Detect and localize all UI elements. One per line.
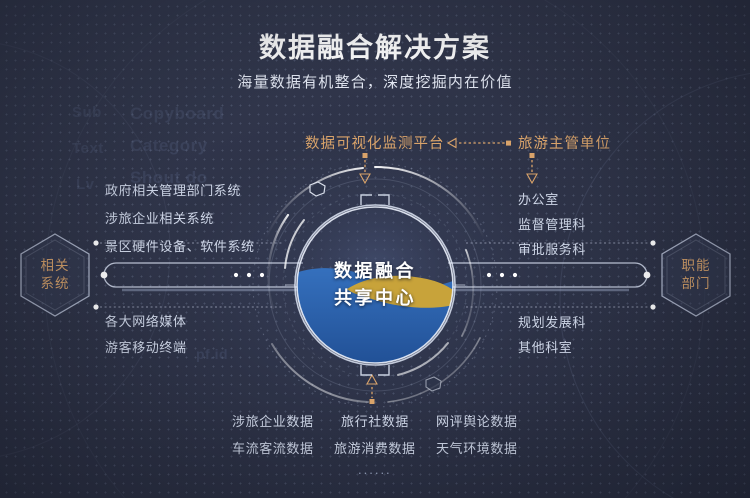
arrow-left-dotted-icon <box>448 136 514 150</box>
infographic-canvas: Copyboard Category Shout do Sub Text Lv … <box>0 0 750 498</box>
right-dept-item-1: 监督管理科 <box>518 214 586 233</box>
left-system-item-4: 游客移动终端 <box>105 337 187 356</box>
background-text-1: Category <box>130 136 208 156</box>
background-text-4: Text <box>72 140 104 157</box>
hexagon-left-line1: 相关 <box>41 257 70 275</box>
right-dept-item-4: 其他科室 <box>518 337 572 356</box>
core-title-line1: 数据融合 <box>334 258 416 285</box>
arrow-down-authority-icon <box>525 153 539 187</box>
right-dept-item-3: 规划发展科 <box>518 312 586 331</box>
data-fusion-core[interactable]: 数据融合 共享中心 <box>295 205 455 365</box>
bottom-data-item-4: 旅游消费数据 <box>334 438 416 457</box>
background-text-5: Lv <box>76 176 95 193</box>
background-text-0: Copyboard <box>130 104 224 124</box>
page-title: 数据融合解决方案 <box>0 26 750 65</box>
page-subtitle: 海量数据有机整合，深度挖掘内在价值 <box>0 71 750 92</box>
bottom-data-item-0: 涉旅企业数据 <box>232 411 314 430</box>
bottom-data-ellipsis: ...... <box>358 462 392 477</box>
bottom-data-item-3: 车流客流数据 <box>232 438 314 457</box>
hexagon-right-line1: 职能 <box>682 257 711 275</box>
background-text-3: Sub <box>72 104 102 121</box>
label-visualization-platform: 数据可视化监测平台 <box>305 132 445 153</box>
hexagon-right-line2: 部门 <box>682 275 711 293</box>
left-system-item-1: 涉旅企业相关系统 <box>105 208 214 227</box>
hexagon-functional-departments[interactable]: 职能 部门 <box>657 231 735 319</box>
background-text-6: pf.id <box>196 346 228 362</box>
left-system-item-0: 政府相关管理部门系统 <box>105 180 241 199</box>
bottom-data-item-5: 天气环境数据 <box>436 438 518 457</box>
hexagon-left-line2: 系统 <box>41 275 70 293</box>
right-dept-item-0: 办公室 <box>518 189 559 208</box>
bottom-data-item-1: 旅行社数据 <box>341 411 409 430</box>
core-title-line2: 共享中心 <box>334 285 416 312</box>
bottom-data-item-2: 网评舆论数据 <box>436 411 518 430</box>
hexagon-related-systems[interactable]: 相关 系统 <box>16 231 94 319</box>
label-tourism-authority: 旅游主管单位 <box>518 132 611 153</box>
